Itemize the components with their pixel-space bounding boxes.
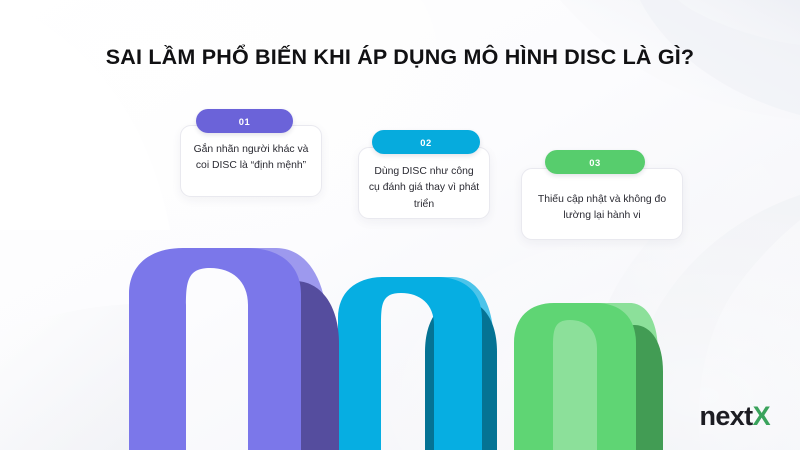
card-03[interactable]: Thiếu cập nhật và không đo lường lại hàn… bbox=[521, 168, 683, 240]
arch-green bbox=[514, 303, 663, 450]
card-badge-02: 02 bbox=[372, 130, 480, 154]
arch-blue bbox=[338, 277, 497, 450]
card-01-text: Gắn nhãn người khác và coi DISC là “định… bbox=[181, 142, 321, 175]
logo-text-next: next bbox=[699, 401, 752, 432]
card-01[interactable]: Gắn nhãn người khác và coi DISC là “định… bbox=[180, 125, 322, 197]
page-title: SAI LẦM PHỔ BIẾN KHI ÁP DỤNG MÔ HÌNH DIS… bbox=[0, 45, 800, 70]
nextx-logo: next X bbox=[699, 401, 770, 432]
card-02-text: Dùng DISC như công cụ đánh giá thay vì p… bbox=[359, 164, 489, 213]
card-badge-03-label: 03 bbox=[589, 157, 601, 168]
arch-purple bbox=[129, 248, 339, 450]
arch-blue-front bbox=[338, 277, 482, 450]
card-02[interactable]: Dùng DISC như công cụ đánh giá thay vì p… bbox=[358, 147, 490, 219]
card-badge-02-label: 02 bbox=[420, 137, 432, 148]
arch-purple-front bbox=[129, 248, 301, 450]
card-03-text: Thiếu cập nhật và không đo lường lại hàn… bbox=[522, 192, 682, 225]
logo-text-x: X bbox=[753, 401, 770, 432]
card-badge-01: 01 bbox=[196, 109, 293, 133]
card-badge-03: 03 bbox=[545, 150, 645, 174]
card-badge-01-label: 01 bbox=[239, 116, 251, 127]
